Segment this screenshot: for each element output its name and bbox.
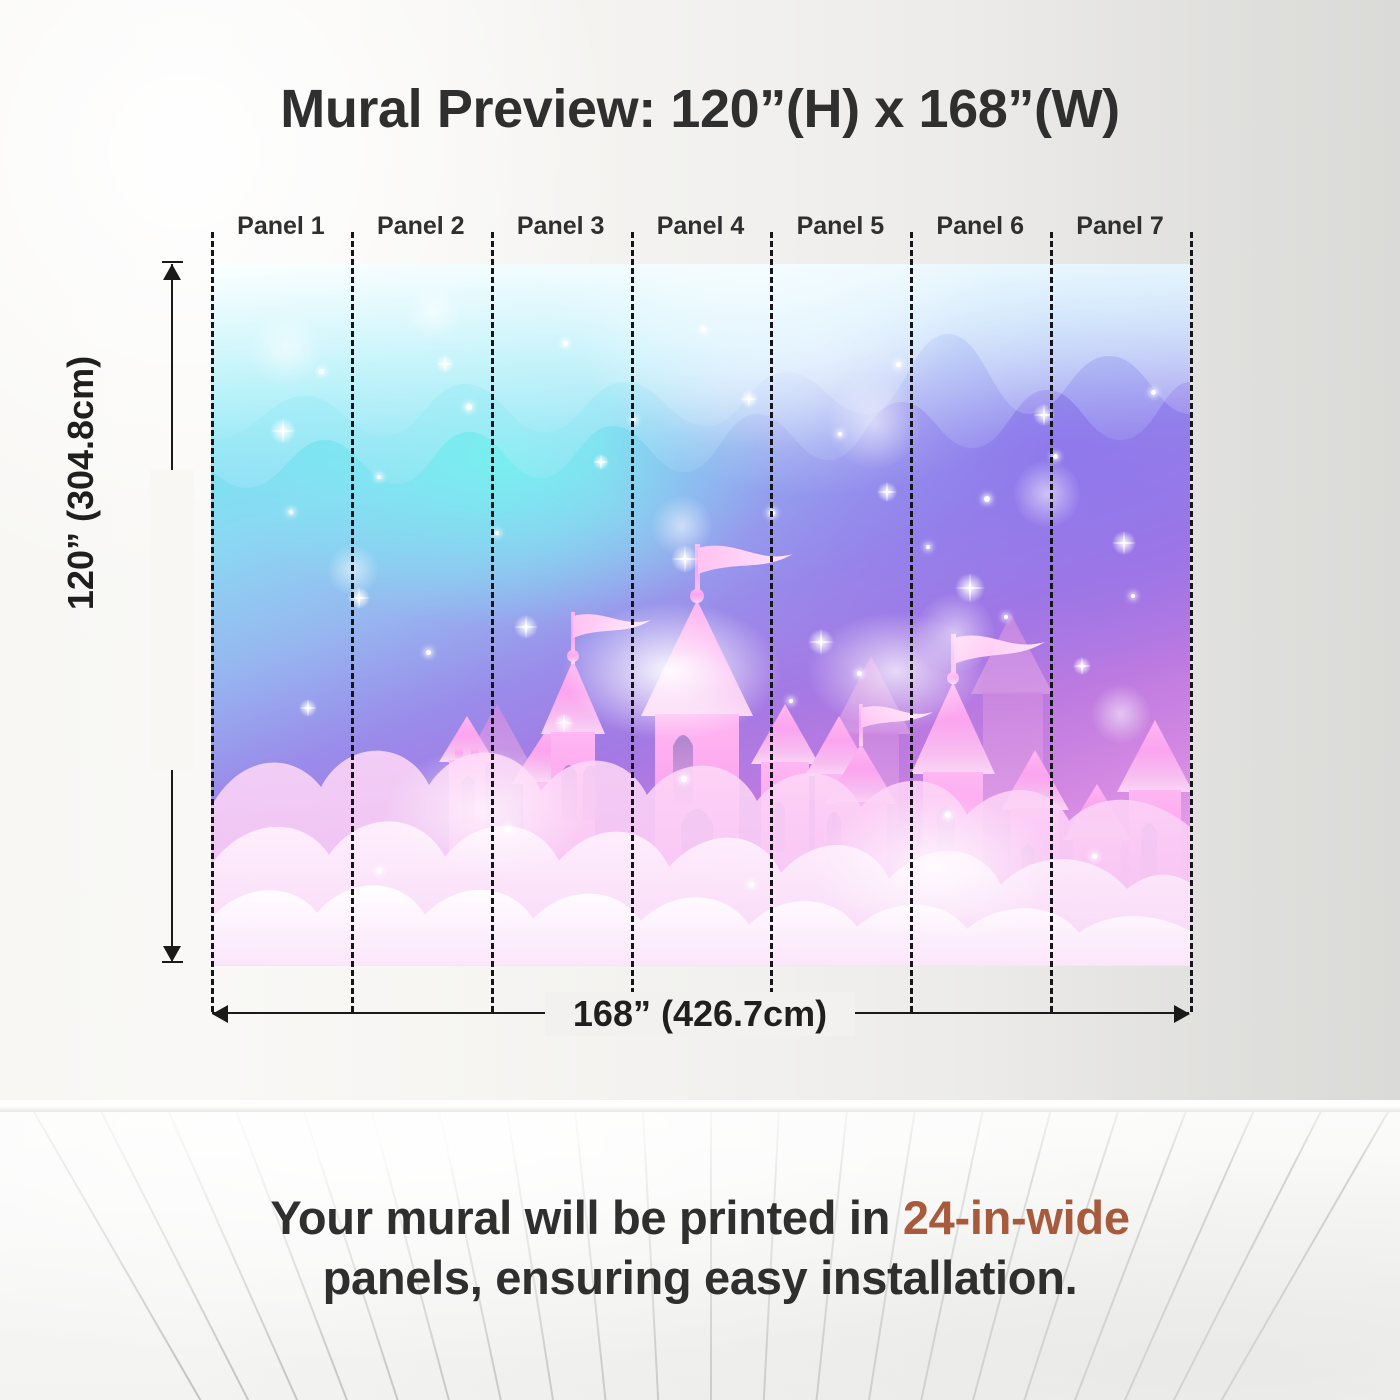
caption-line-2: panels, ensuring easy installation.: [0, 1248, 1400, 1308]
width-arrow-right: [1174, 1005, 1190, 1023]
width-dimension-label: 168” (426.7cm): [500, 993, 900, 1035]
page-title: Mural Preview: 120”(H) x 168”(W): [0, 78, 1400, 140]
panel-label-7: Panel 7: [1050, 212, 1190, 241]
baseboard: [0, 1100, 1400, 1112]
panel-divider-5: [910, 232, 913, 1012]
width-arrow-left: [212, 1005, 228, 1023]
panel-label-4: Panel 4: [631, 212, 771, 241]
panel-label-2: Panel 2: [351, 212, 491, 241]
panel-divider-1: [351, 232, 354, 1012]
panel-label-5: Panel 5: [770, 212, 910, 241]
height-dimension-label: 120” (304.8cm): [60, 283, 102, 683]
height-label-backdrop: [150, 470, 194, 770]
panel-divider-4: [770, 232, 773, 1012]
panel-label-1: Panel 1: [211, 212, 351, 241]
caption-accent: 24-in-wide: [903, 1191, 1130, 1244]
panel-divider-2: [491, 232, 494, 1012]
panel-divider-7: [1190, 232, 1193, 1012]
panel-label-6: Panel 6: [910, 212, 1050, 241]
height-tick-bottom: [162, 961, 183, 963]
panel-label-3: Panel 3: [491, 212, 631, 241]
panel-divider-0: [211, 232, 214, 1012]
mural-artwork[interactable]: [211, 264, 1190, 966]
height-arrow-top: [163, 264, 181, 280]
panel-divider-3: [631, 232, 634, 1012]
caption-lead: Your mural will be printed in: [270, 1191, 903, 1244]
panel-divider-6: [1050, 232, 1053, 1012]
height-tick-top: [162, 261, 183, 263]
height-arrow-bottom: [163, 946, 181, 962]
caption-line-1: Your mural will be printed in 24-in-wide: [0, 1188, 1400, 1248]
mural-preview-stage: Mural Preview: 120”(H) x 168”(W): [0, 0, 1400, 1400]
installation-caption: Your mural will be printed in 24-in-wide…: [0, 1188, 1400, 1308]
cloud-bank-bottom: [211, 657, 1190, 966]
